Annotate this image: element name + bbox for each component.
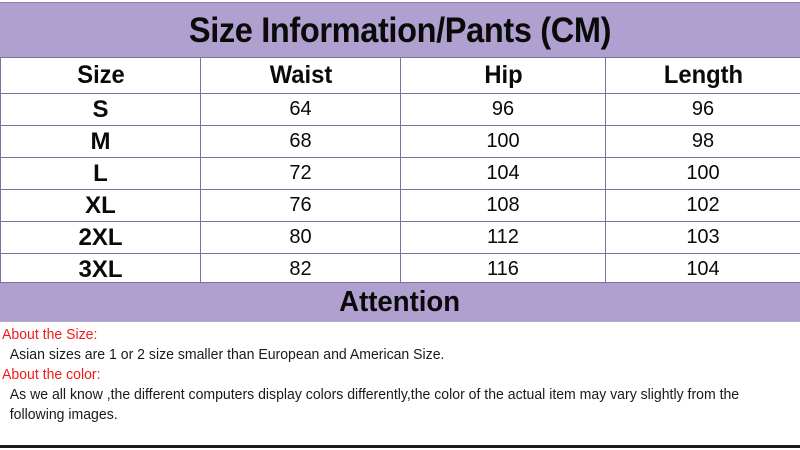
- cell-size: L: [1, 158, 201, 190]
- table-row: L 72 104 100: [1, 158, 800, 190]
- chart-title-band: Size Information/Pants (CM): [0, 2, 800, 57]
- table-row: M 68 100 98: [1, 126, 800, 158]
- column-header-length: Length: [610, 58, 795, 94]
- cell-waist: 64: [201, 94, 401, 126]
- column-header-waist: Waist: [206, 58, 396, 94]
- cell-waist: 76: [201, 190, 401, 222]
- cell-size: 3XL: [1, 254, 201, 286]
- table-row: S 64 96 96: [1, 94, 800, 126]
- table-row: 2XL 80 112 103: [1, 222, 800, 254]
- cell-hip: 112: [401, 222, 606, 254]
- attention-notes: About the Size: Asian sizes are 1 or 2 s…: [0, 322, 800, 448]
- column-header-hip: Hip: [406, 58, 601, 94]
- cell-hip: 104: [401, 158, 606, 190]
- about-color-body: As we all know ,the different computers …: [2, 385, 774, 425]
- cell-waist: 72: [201, 158, 401, 190]
- size-chart-sheet: Size Information/Pants (CM) Size Waist H…: [0, 0, 800, 450]
- cell-hip: 108: [401, 190, 606, 222]
- cell-size: 2XL: [1, 222, 201, 254]
- cell-size: XL: [1, 190, 201, 222]
- table-row: XL 76 108 102: [1, 190, 800, 222]
- cell-waist: 82: [201, 254, 401, 286]
- cell-hip: 116: [401, 254, 606, 286]
- size-information-table: Size Waist Hip Length S 64 96 96 M 68 10…: [0, 57, 800, 286]
- table-row: 3XL 82 116 104: [1, 254, 800, 286]
- about-size-body: Asian sizes are 1 or 2 size smaller than…: [2, 345, 774, 365]
- cell-length: 103: [606, 222, 800, 254]
- cell-waist: 68: [201, 126, 401, 158]
- about-color-heading: About the color:: [2, 365, 774, 385]
- cell-length: 98: [606, 126, 800, 158]
- column-header-size: Size: [6, 58, 196, 94]
- cell-hip: 100: [401, 126, 606, 158]
- about-size-heading: About the Size:: [2, 325, 774, 345]
- cell-length: 102: [606, 190, 800, 222]
- page-title: Size Information/Pants (CM): [189, 13, 611, 48]
- table-header-row: Size Waist Hip Length: [1, 58, 800, 94]
- cell-length: 100: [606, 158, 800, 190]
- attention-band: Attention: [0, 282, 800, 322]
- cell-size: S: [1, 94, 201, 126]
- attention-heading: Attention: [340, 288, 461, 317]
- cell-length: 96: [606, 94, 800, 126]
- cell-length: 104: [606, 254, 800, 286]
- cell-size: M: [1, 126, 201, 158]
- cell-hip: 96: [401, 94, 606, 126]
- cell-waist: 80: [201, 222, 401, 254]
